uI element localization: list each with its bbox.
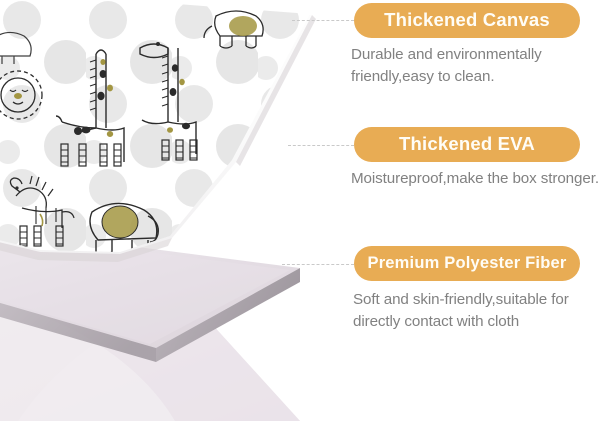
connector-line-eva	[288, 145, 354, 146]
feature-pill-premium-polyester-fiber[interactable]: Premium Polyester Fiber	[354, 246, 580, 281]
product-material-infographic: Thickened Canvas Durable and environment…	[0, 0, 600, 421]
feature-pill-thickened-canvas[interactable]: Thickened Canvas	[354, 3, 580, 38]
feature-pill-thickened-eva[interactable]: Thickened EVA	[354, 127, 580, 162]
connector-line-fiber	[282, 264, 354, 265]
feature-description-premium-polyester-fiber: Soft and skin-friendly,suitable for dire…	[353, 289, 600, 333]
feature-annotation-column: Thickened Canvas Durable and environment…	[340, 0, 600, 421]
feature-description-thickened-eva: Moistureproof,make the box stronger.	[351, 168, 599, 190]
feature-pill-label: Thickened Canvas	[384, 11, 550, 30]
layered-material-illustration	[0, 0, 340, 421]
feature-description-thickened-canvas: Durable and environmentally friendly,eas…	[351, 44, 599, 88]
feature-pill-label: Thickened EVA	[399, 135, 535, 154]
connector-line-canvas	[292, 20, 354, 21]
canvas-layer	[0, 0, 330, 270]
feature-pill-label: Premium Polyester Fiber	[367, 255, 566, 272]
